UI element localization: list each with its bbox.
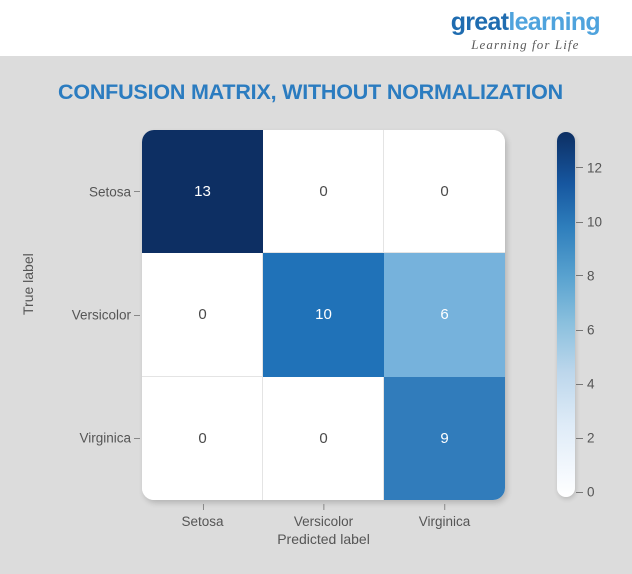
- colorbar-dash-0: [576, 492, 583, 493]
- matrix-cell-1-1: 10: [263, 253, 384, 376]
- colorbar: 12 10 8 6 4 2 0: [557, 132, 575, 497]
- logo-word-great: great: [451, 8, 509, 36]
- x-tick-label-setosa: Setosa: [181, 514, 223, 529]
- matrix-cell-2-1: 0: [263, 377, 384, 500]
- colorbar-dash-6: [576, 330, 583, 331]
- colorbar-text-8: 8: [587, 268, 595, 283]
- colorbar-dash-12: [576, 167, 583, 168]
- logo-word-learning: learning: [508, 8, 600, 36]
- colorbar-text-12: 12: [587, 160, 602, 175]
- colorbar-tick-4: 4: [575, 377, 595, 392]
- x-tick-dash-2: [444, 504, 445, 510]
- x-tick-text-0: Setosa: [181, 514, 223, 529]
- confusion-matrix-grid: 13 0 0 0 10 6 0 0 9: [142, 130, 505, 500]
- colorbar-text-2: 2: [587, 431, 595, 446]
- logo-wordmark: greatlearning: [451, 10, 600, 35]
- colorbar-gradient: [557, 132, 575, 497]
- colorbar-dash-2: [576, 438, 583, 439]
- x-axis-title: Predicted label: [142, 531, 505, 547]
- colorbar-tick-10: 10: [575, 215, 602, 230]
- x-tick-text-2: Virginica: [419, 514, 471, 529]
- matrix-cell-0-1: 0: [263, 130, 384, 253]
- colorbar-tick-12: 12: [575, 160, 602, 175]
- x-tick-dash-0: [203, 504, 204, 510]
- matrix-cell-0-0: 13: [142, 130, 263, 253]
- colorbar-dash-4: [576, 384, 583, 385]
- colorbar-tick-6: 6: [575, 323, 595, 338]
- brand-logo: greatlearning Learning for Life: [451, 10, 600, 51]
- colorbar-text-4: 4: [587, 377, 595, 392]
- matrix-cell-0-2: 0: [384, 130, 505, 253]
- colorbar-tick-8: 8: [575, 268, 595, 283]
- colorbar-dash-8: [576, 275, 583, 276]
- matrix-cell-1-0: 0: [142, 253, 263, 376]
- y-tick-text-2: Virginica: [79, 431, 131, 446]
- y-tick-label-setosa: Setosa: [89, 184, 142, 199]
- colorbar-text-0: 0: [587, 485, 595, 500]
- colorbar-dash-10: [576, 222, 583, 223]
- y-tick-label-versicolor: Versicolor: [72, 308, 142, 323]
- x-tick-label-versicolor: Versicolor: [294, 514, 353, 529]
- matrix-cell-2-2: 9: [384, 377, 505, 500]
- chart-title: CONFUSION MATRIX, WITHOUT NORMALIZATION: [58, 80, 563, 105]
- colorbar-tick-2: 2: [575, 431, 595, 446]
- y-tick-text-1: Versicolor: [72, 308, 131, 323]
- matrix-cell-1-2: 6: [384, 253, 505, 376]
- colorbar-tick-0: 0: [575, 485, 595, 500]
- y-tick-dash-0: [134, 191, 140, 192]
- page-header: greatlearning Learning for Life: [0, 0, 632, 56]
- x-tick-dash-1: [324, 504, 325, 510]
- colorbar-text-10: 10: [587, 215, 602, 230]
- confusion-matrix-plot: 13 0 0 0 10 6 0 0 9 Setosa Versicolor Vi…: [142, 130, 505, 500]
- y-tick-label-virginica: Virginica: [79, 431, 142, 446]
- x-tick-label-virginica: Virginica: [419, 514, 471, 529]
- y-axis-title: True label: [20, 253, 36, 315]
- y-tick-dash-1: [134, 315, 140, 316]
- x-tick-text-1: Versicolor: [294, 514, 353, 529]
- y-tick-text-0: Setosa: [89, 184, 131, 199]
- logo-tagline: Learning for Life: [451, 38, 600, 51]
- y-tick-dash-2: [134, 438, 140, 439]
- colorbar-text-6: 6: [587, 323, 595, 338]
- matrix-cell-2-0: 0: [142, 377, 263, 500]
